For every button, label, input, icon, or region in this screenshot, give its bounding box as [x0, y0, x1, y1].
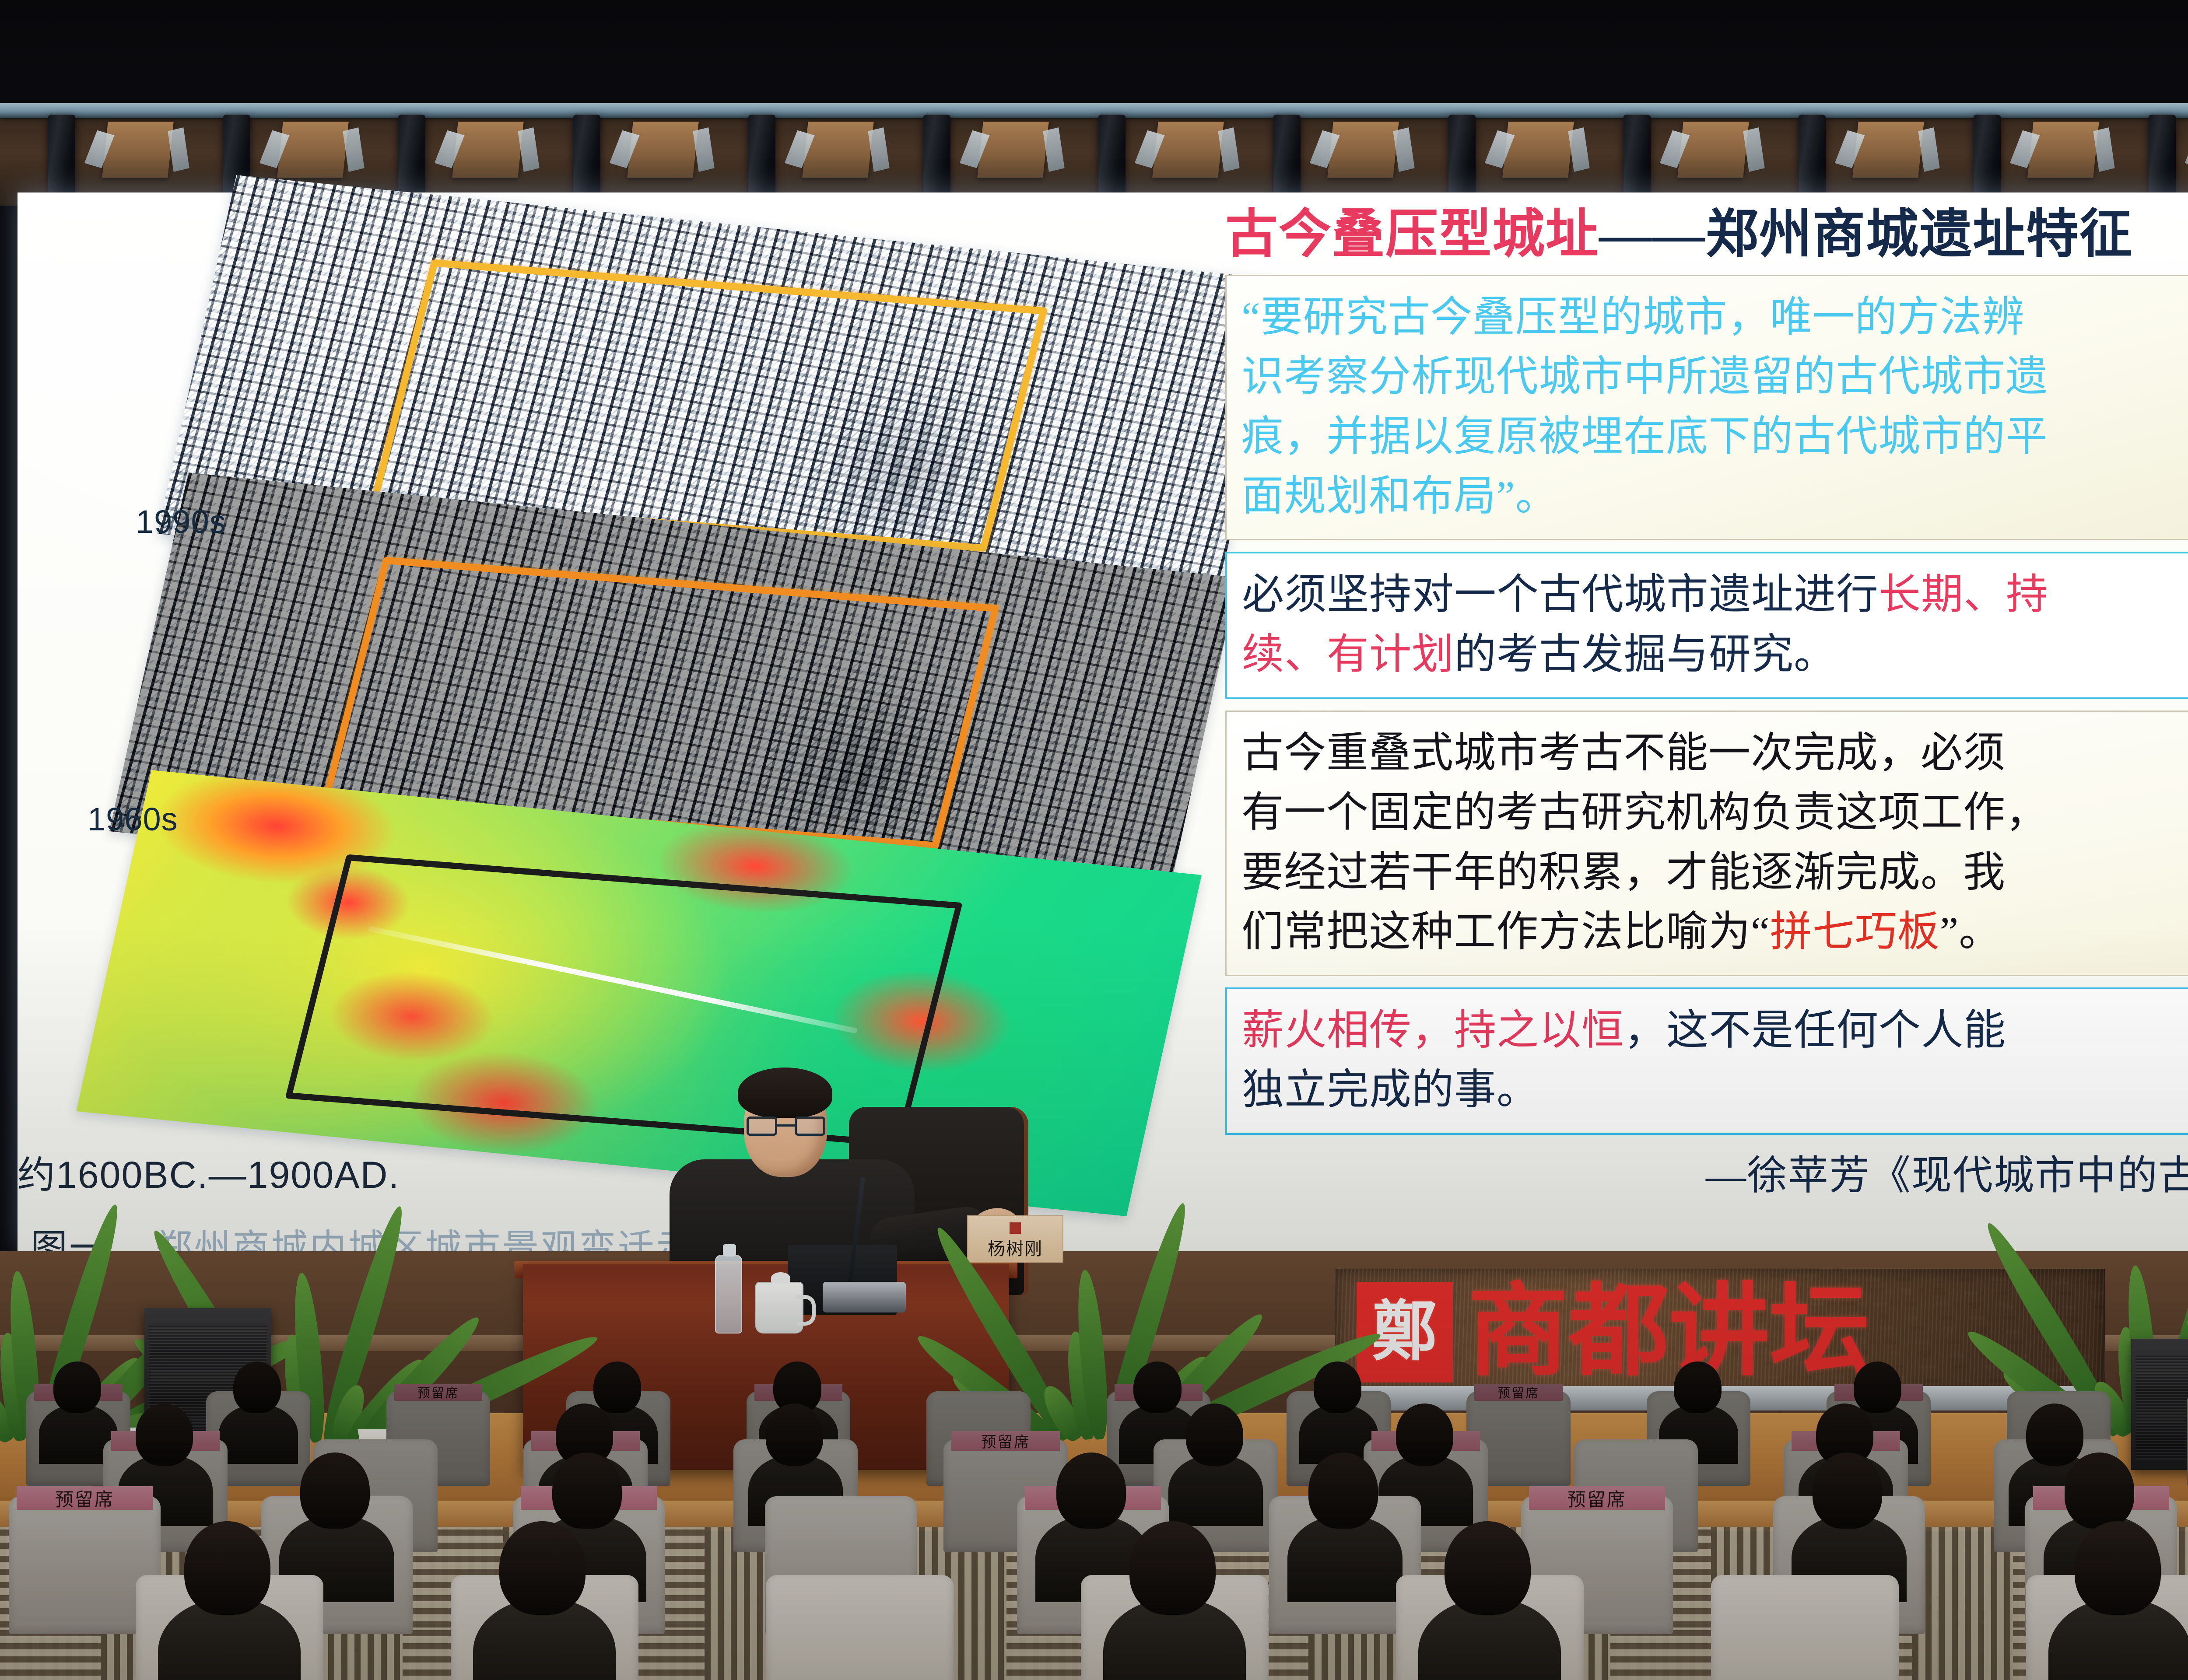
- stage-light-barndoor: [1152, 122, 1224, 178]
- audience-seat: [766, 1575, 954, 1680]
- era-label-1960s: 1960s: [88, 801, 178, 838]
- eyeglasses-icon: [747, 1116, 825, 1136]
- nameplate-name: 杨树刚: [988, 1235, 1043, 1260]
- reserved-seat-band: 预留席: [1474, 1384, 1563, 1400]
- statement-box-4: 薪火相传，持之以恒，这不是任何个人能 独立完成的事。: [1225, 987, 2188, 1135]
- stage-light-beam: [1273, 115, 1301, 202]
- audience-member-head: [1129, 1521, 1216, 1615]
- statement-3-line-3: 要经过若干年的积累，才能逐渐完成。我: [1241, 843, 2188, 902]
- statement-2-line-1: 必须坚持对一个古代城市遗址进行长期、持: [1242, 565, 2188, 624]
- statement-2-line-2: 续、有计划的考古发掘与研究。: [1242, 625, 2188, 684]
- audience-member-head: [2075, 1521, 2161, 1615]
- audience-member-head: [233, 1361, 281, 1414]
- statement-4-plain: ，这不是任何个人能: [1624, 1007, 2006, 1053]
- caption-date-range: 约1600BC.—1900AD.: [18, 1144, 400, 1199]
- statement-2-red-b: 续、有计划: [1242, 631, 1454, 678]
- stage-light-barndoor: [802, 122, 873, 178]
- statement-3-plain-a: 们常把这种工作方法比喻为“: [1241, 908, 1770, 955]
- audience-member-head: [1186, 1403, 1243, 1466]
- statement-4-line-2: 独立完成的事。: [1242, 1060, 2188, 1120]
- quote-1-line-1: “要研究古今叠压型的城市，唯一的方法辨: [1241, 287, 2188, 347]
- quote-1-line-4: 面规划和布局”。: [1241, 466, 2188, 526]
- quote-1-line-2: 识考察分析现代城市中所遗留的古代城市遗: [1241, 347, 2188, 406]
- audience-member-head: [1813, 1452, 1882, 1528]
- statement-box-2: 必须坚持对一个古代城市遗址进行长期、持 续、有计划的考古发掘与研究。: [1225, 552, 2188, 699]
- stage-light-barndoor: [1327, 122, 1399, 178]
- map-layer-stack: 1990s 1960s: [96, 223, 1278, 1142]
- quote-box-1: “要研究古今叠压型的城市，唯一的方法辨 识考察分析现代城市中所遗留的古代城市遗 …: [1225, 275, 2188, 540]
- stage-light-barndoor: [1502, 122, 1574, 178]
- water-bottle: [715, 1255, 742, 1333]
- statement-box-3: 古今重叠式城市考古不能一次完成，必须 有一个固定的考古研究机构负责这项工作， 要…: [1225, 710, 2188, 976]
- statement-3-plain-b: ”。: [1940, 908, 2002, 955]
- forum-banner: 鄭 商都讲坛: [1348, 1267, 2100, 1398]
- stage-light-barndoor: [977, 122, 1048, 178]
- stage-light-beam: [398, 115, 425, 202]
- audience-member-head: [766, 1403, 823, 1466]
- stage-light-beam: [748, 115, 775, 202]
- speaker-hair: [738, 1067, 832, 1118]
- audience-member-head: [1445, 1521, 1531, 1615]
- projection-screen: 1990s 1960s 约1600BC.—1900AD. 图一 郑州商城内城区城…: [18, 192, 2188, 1251]
- eyeglass-bridge: [777, 1124, 795, 1127]
- statement-2-red-a: 长期、持: [1879, 571, 2048, 618]
- slide-title-navy: 郑州商城遗址特征: [1706, 205, 2133, 263]
- statement-3-line-2: 有一个固定的考古研究机构负责这项工作，: [1241, 783, 2188, 842]
- audience-member-head: [300, 1452, 370, 1528]
- city-wall-outline-black: [285, 854, 962, 1147]
- audience-member-head: [2026, 1403, 2083, 1466]
- stage-light-beam: [1799, 115, 1826, 202]
- audience-member-head: [1396, 1403, 1453, 1466]
- audience-member-head: [2065, 1452, 2134, 1528]
- audience-member-head: [53, 1361, 101, 1414]
- reserved-seat-band: 预留席: [394, 1384, 483, 1400]
- audience-member-head: [136, 1403, 193, 1466]
- audience-member-head: [1674, 1361, 1722, 1414]
- stage-light-beam: [573, 115, 600, 202]
- stage-light-barndoor: [102, 122, 173, 178]
- statement-4-line-1: 薪火相传，持之以恒，这不是任何个人能: [1242, 1001, 2188, 1060]
- statement-3-line-1: 古今重叠式城市考古不能一次完成，必须: [1241, 723, 2188, 783]
- nameplate-seal-icon: [1010, 1222, 1021, 1234]
- slide-text-column: 古今叠压型城址——郑州商城遗址特征 “要研究古今叠压型的城市，唯一的方法辨 识考…: [1225, 206, 2188, 1201]
- slide-title: 古今叠压型城址——郑州商城遗址特征: [1225, 206, 2188, 263]
- stage-light-barndoor: [627, 122, 698, 178]
- slide-attribution: —徐苹芳《现代城市中的古代城市遗痕》: [1225, 1143, 2188, 1201]
- stage-light-barndoor: [1852, 122, 1924, 178]
- reserved-seat-band: 预留席: [951, 1431, 1060, 1451]
- statement-2-plain-a: 必须坚持对一个古代城市遗址进行: [1242, 571, 1879, 618]
- forum-banner-text: 商都讲坛: [1468, 1282, 1870, 1382]
- stage-light-barndoor: [2027, 122, 2099, 178]
- stage-light-beam: [1974, 115, 2001, 202]
- pa-speaker-cabinet: [2131, 1339, 2188, 1470]
- audience-seat: [1711, 1575, 1899, 1680]
- eyeglass-right-lens: [795, 1116, 825, 1136]
- reserved-seat-band: 预留席: [17, 1486, 153, 1510]
- audience-member-head: [593, 1361, 641, 1414]
- audience-member-head: [184, 1521, 270, 1615]
- statement-3-red: 拼七巧板: [1770, 908, 1940, 955]
- speaker-nameplate: 杨树刚: [967, 1215, 1063, 1263]
- audience-member-head: [1308, 1452, 1378, 1528]
- quote-1-line-3: 痕，并据以复原被埋在底下的古代城市的平: [1241, 407, 2188, 466]
- stage-light-beam: [1098, 115, 1126, 202]
- stage-light-beam: [48, 115, 75, 202]
- reserved-seat-band: 预留席: [1529, 1486, 1665, 1510]
- audience-member-head: [552, 1452, 622, 1528]
- statement-3-line-4: 们常把这种工作方法比喻为“拼七巧板”。: [1241, 902, 2188, 962]
- slide-title-red: 古今叠压型城址: [1225, 205, 1599, 263]
- forum-seal-icon: 鄭: [1357, 1282, 1453, 1382]
- stage-light-beam: [2149, 115, 2176, 202]
- audience-member-head: [1854, 1361, 1901, 1414]
- lighting-truss: [0, 103, 2188, 118]
- lecture-hall-photo: 1990s 1960s 约1600BC.—1900AD. 图一 郑州商城内城区城…: [0, 0, 2188, 1680]
- stage-light-beam: [1623, 115, 1651, 202]
- stage-light-barndoor: [452, 122, 523, 178]
- audience-member-head: [499, 1521, 586, 1615]
- microphone-base: [823, 1282, 906, 1312]
- tea-cup: [755, 1282, 803, 1333]
- stage-light-beam: [923, 115, 950, 202]
- audience-member-head: [1314, 1361, 1361, 1414]
- statement-2-plain-b: 的考古发掘与研究。: [1454, 631, 1836, 678]
- audience-member-head: [1133, 1361, 1181, 1414]
- stage-light-barndoor: [1677, 122, 1749, 178]
- era-label-1990s: 1990s: [136, 503, 226, 540]
- statement-4-red: 薪火相传，持之以恒: [1242, 1007, 1624, 1053]
- eyeglass-left-lens: [747, 1116, 777, 1136]
- audience-member-head: [1056, 1452, 1126, 1528]
- stage-light-beam: [1448, 115, 1476, 202]
- slide-title-dash: ——: [1599, 205, 1706, 263]
- stage-light-barndoor: [277, 122, 348, 178]
